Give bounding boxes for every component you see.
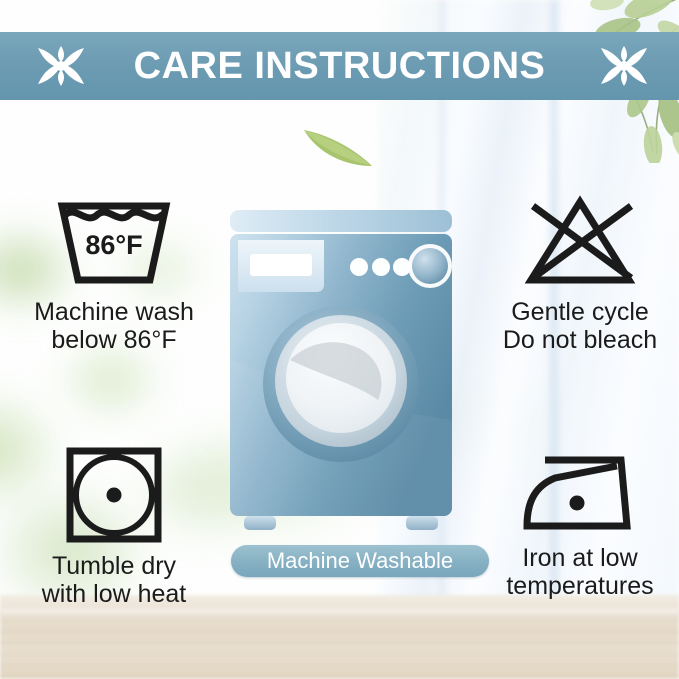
background-table-grain	[0, 609, 679, 679]
caption-line-1: Iron at low	[506, 544, 653, 572]
caption-line-2: below 86°F	[34, 326, 194, 354]
machine-top-cap	[230, 210, 452, 232]
care-symbol-do-not-bleach: Gentle cycle Do not bleach	[482, 194, 678, 354]
fleur-de-lis-icon	[30, 42, 92, 90]
iron-low-temperature-icon	[521, 446, 639, 536]
machine-foot	[244, 516, 276, 530]
care-caption: Tumble dry with low heat	[42, 552, 187, 608]
machine-foot	[406, 516, 438, 530]
wash-temperature-label: 86°F	[85, 230, 142, 260]
machine-washable-badge: Machine Washable	[231, 545, 489, 577]
drawer-handle	[250, 254, 312, 276]
control-dot	[372, 258, 390, 276]
control-knob	[412, 248, 448, 284]
wash-tub-icon: 86°F	[54, 196, 174, 290]
care-symbol-tumble-dry: Tumble dry with low heat	[16, 446, 212, 608]
tumble-dry-icon-wrap	[65, 446, 163, 544]
tumble-dry-low-icon	[65, 446, 163, 544]
fleur-de-lis-icon	[593, 42, 655, 90]
care-caption: Iron at low temperatures	[506, 544, 653, 600]
do-not-bleach-triangle-icon	[521, 194, 639, 290]
control-dot	[350, 258, 368, 276]
floating-leaf-icon	[300, 118, 376, 170]
caption-line-1: Tumble dry	[42, 552, 187, 580]
do-not-bleach-icon-wrap	[521, 194, 639, 290]
caption-line-2: temperatures	[506, 572, 653, 600]
badge-label: Machine Washable	[267, 550, 453, 572]
care-caption: Gentle cycle Do not bleach	[503, 298, 657, 354]
washing-machine-illustration	[228, 210, 454, 532]
caption-line-1: Gentle cycle	[503, 298, 657, 326]
wash-tub-icon-wrap: 86°F	[54, 196, 174, 290]
care-symbol-machine-wash: 86°F Machine wash below 86°F	[16, 196, 212, 354]
care-caption: Machine wash below 86°F	[34, 298, 194, 354]
care-instructions-infographic: CARE INSTRUCTIONS	[0, 0, 679, 679]
iron-icon-wrap	[521, 446, 639, 536]
page-title: CARE INSTRUCTIONS	[134, 47, 546, 85]
background-table-edge	[0, 609, 679, 617]
caption-line-2: Do not bleach	[503, 326, 657, 354]
header-banner: CARE INSTRUCTIONS	[0, 32, 679, 100]
caption-line-1: Machine wash	[34, 298, 194, 326]
caption-line-2: with low heat	[42, 580, 187, 608]
care-symbol-iron: Iron at low temperatures	[482, 446, 678, 600]
